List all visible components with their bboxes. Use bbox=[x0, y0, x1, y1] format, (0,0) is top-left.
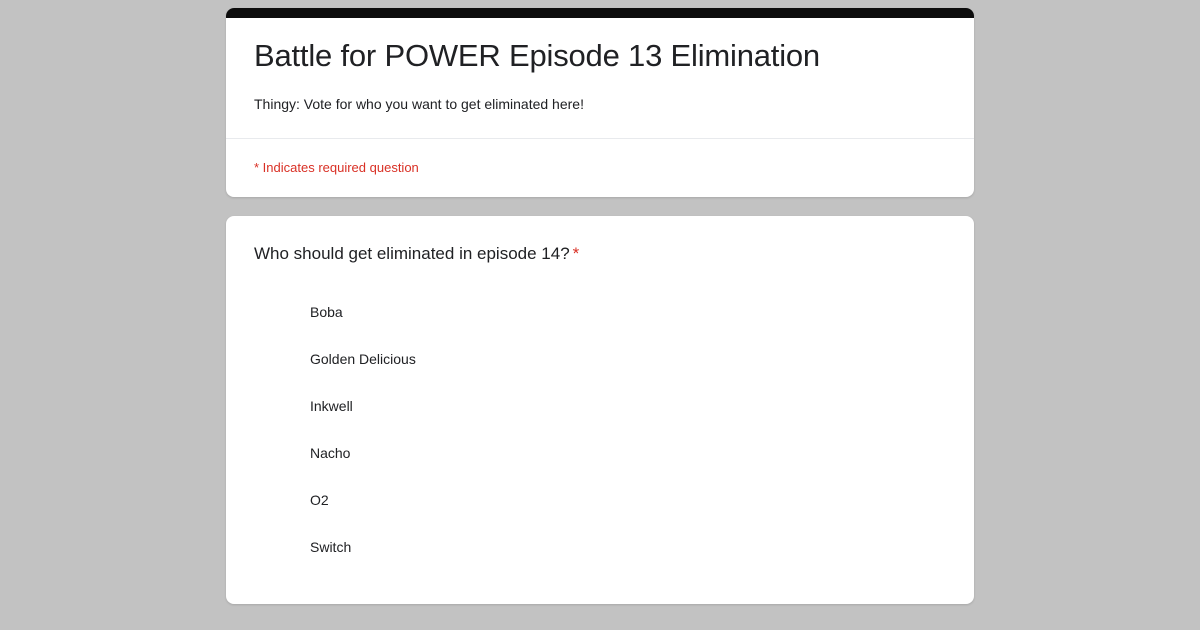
radio-option-label: Nacho bbox=[310, 443, 350, 463]
radio-option-o2[interactable]: O2 bbox=[254, 476, 946, 523]
form-preview-page: Battle for POWER Episode 13 Elimination … bbox=[0, 0, 1200, 630]
radio-option-boba[interactable]: Boba bbox=[254, 288, 946, 335]
radio-circle-icon[interactable] bbox=[290, 349, 310, 369]
radio-options-list: Boba Golden Delicious Inkwell Nacho O2 bbox=[254, 288, 946, 570]
question-title: Who should get eliminated in episode 14?… bbox=[254, 242, 946, 266]
radio-option-label: O2 bbox=[310, 490, 329, 510]
radio-circle-icon[interactable] bbox=[290, 302, 310, 322]
radio-option-label: Boba bbox=[310, 302, 343, 322]
radio-option-inkwell[interactable]: Inkwell bbox=[254, 382, 946, 429]
radio-option-label: Inkwell bbox=[310, 396, 353, 416]
form-header-card: Battle for POWER Episode 13 Elimination … bbox=[226, 8, 974, 197]
radio-circle-icon[interactable] bbox=[290, 490, 310, 510]
form-accent-bar bbox=[226, 8, 974, 18]
radio-circle-icon[interactable] bbox=[290, 396, 310, 416]
radio-option-nacho[interactable]: Nacho bbox=[254, 429, 946, 476]
required-question-note: * Indicates required question bbox=[226, 139, 974, 197]
radio-option-label: Golden Delicious bbox=[310, 349, 416, 369]
question-card: Who should get eliminated in episode 14?… bbox=[226, 216, 974, 604]
form-header-body: Battle for POWER Episode 13 Elimination … bbox=[226, 18, 974, 138]
radio-circle-icon[interactable] bbox=[290, 537, 310, 557]
required-asterisk: * bbox=[573, 244, 580, 263]
radio-option-golden-delicious[interactable]: Golden Delicious bbox=[254, 335, 946, 382]
form-title: Battle for POWER Episode 13 Elimination bbox=[254, 36, 946, 76]
form-description: Thingy: Vote for who you want to get eli… bbox=[254, 94, 946, 114]
form-column: Battle for POWER Episode 13 Elimination … bbox=[226, 8, 974, 604]
question-title-text: Who should get eliminated in episode 14? bbox=[254, 244, 570, 263]
radio-option-label: Switch bbox=[310, 537, 351, 557]
radio-circle-icon[interactable] bbox=[290, 443, 310, 463]
radio-option-switch[interactable]: Switch bbox=[254, 523, 946, 570]
